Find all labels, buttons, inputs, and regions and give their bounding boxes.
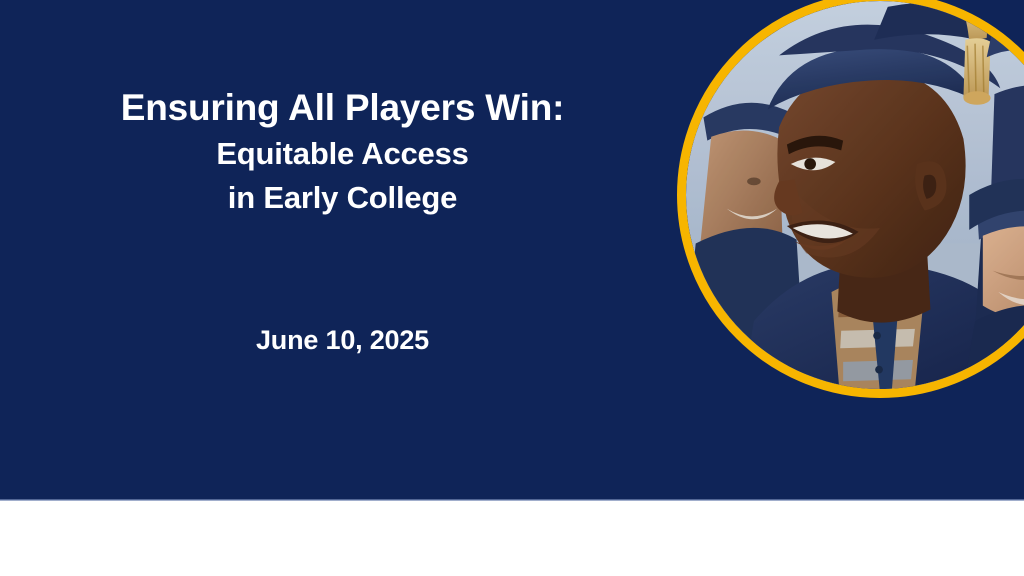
graduates-photo-illustration	[686, 1, 1024, 389]
photo-gold-ring	[677, 0, 1024, 398]
title-line-2: Equitable Access	[70, 132, 615, 176]
slide-date: June 10, 2025	[70, 325, 615, 356]
hero-photo	[677, 0, 1024, 398]
title-line-1: Ensuring All Players Win:	[70, 84, 615, 132]
photo-image-clip	[686, 1, 1024, 389]
slide-title: Ensuring All Players Win: Equitable Acce…	[70, 84, 615, 220]
presentation-slide: Ensuring All Players Win: Equitable Acce…	[0, 0, 1024, 576]
slide-footer: p 2 c SCHOOL SERVICES & INNOVATION dese	[0, 501, 1024, 576]
title-line-3: in Early College	[70, 176, 615, 220]
